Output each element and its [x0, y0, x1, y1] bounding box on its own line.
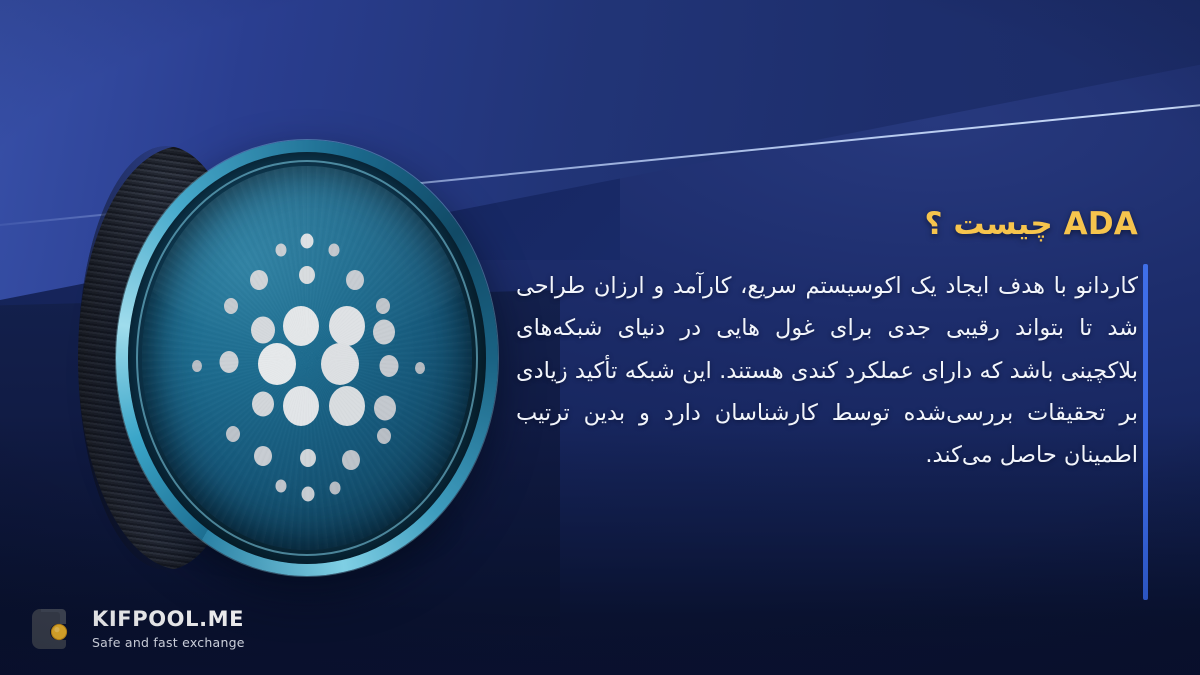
- cardano-dots-icon: [177, 208, 437, 508]
- brand-tagline: Safe and fast exchange: [92, 637, 245, 650]
- page-title: ADA چیست ؟: [508, 206, 1138, 243]
- coin-face: [142, 166, 472, 550]
- brand-text-block: KIFPOOL.ME Safe and fast exchange: [92, 609, 245, 650]
- brand-name: KIFPOOL.ME: [92, 609, 245, 630]
- text-accent-bar: [1143, 264, 1148, 600]
- ada-coin-illustration: [78, 140, 498, 576]
- body-paragraph: کاردانو با هدف ایجاد یک اکوسیستم سریع، ک…: [508, 265, 1138, 476]
- brand-logo[interactable]: KIFPOOL.ME Safe and fast exchange: [30, 603, 245, 655]
- text-panel: ADA چیست ؟ کاردانو با هدف ایجاد یک اکوسی…: [508, 206, 1138, 477]
- kifpool-wallet-icon: [30, 603, 78, 655]
- slide-canvas: ADA چیست ؟ کاردانو با هدف ایجاد یک اکوسی…: [0, 0, 1200, 675]
